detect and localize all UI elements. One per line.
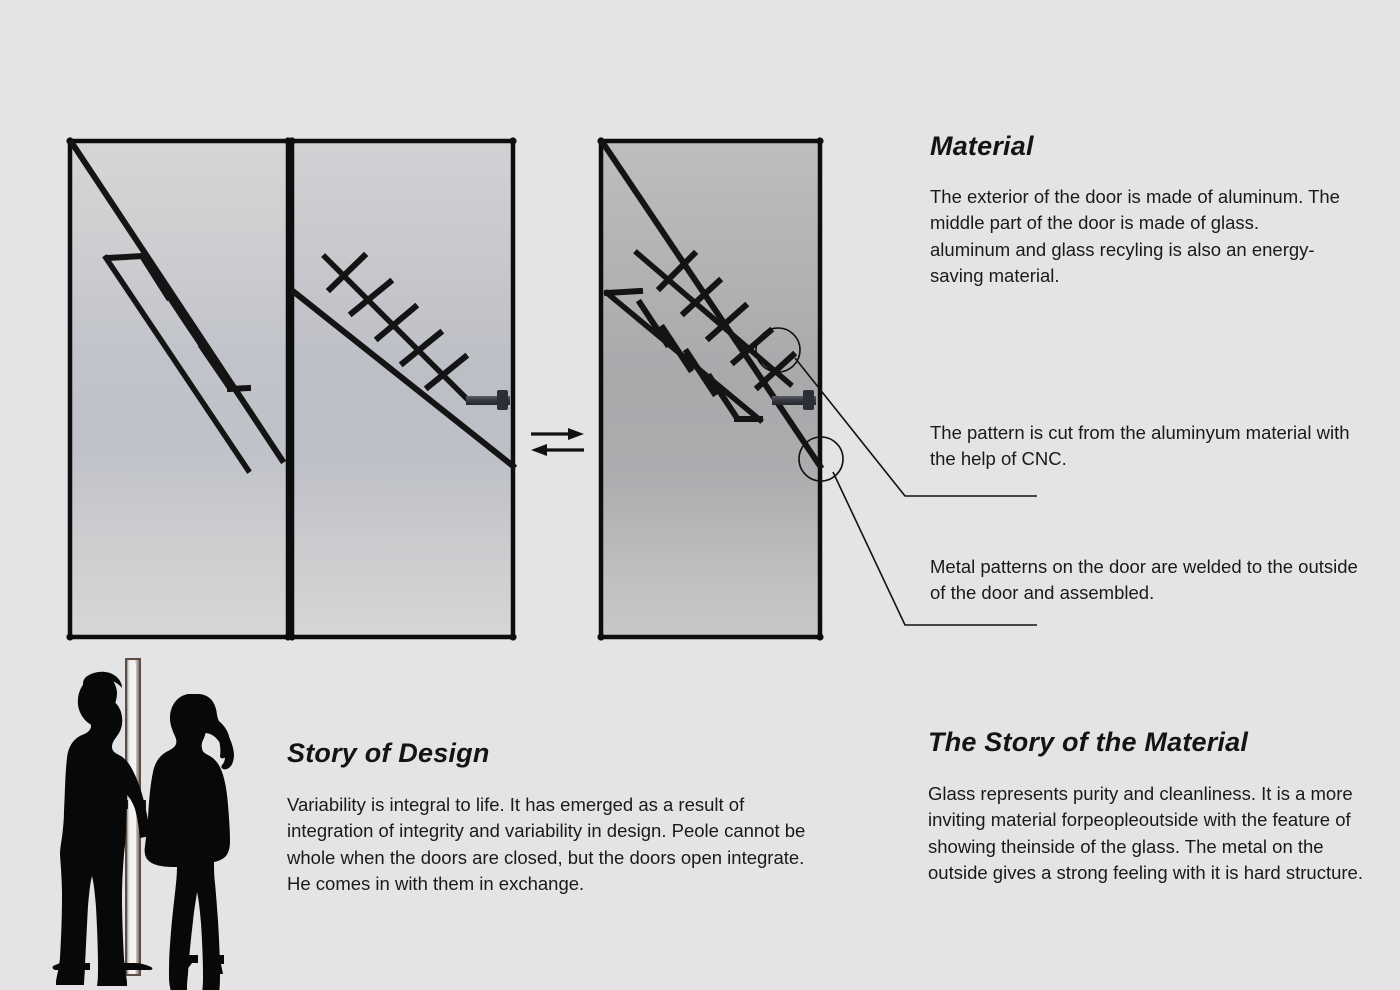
story-of-material-heading: The Story of the Material (928, 727, 1378, 758)
story-of-design-body: Variability is integral to life. It has … (287, 792, 807, 897)
welded-callout-section: Metal patterns on the door are welded to… (930, 554, 1370, 607)
transform-arrow-icon (531, 428, 584, 456)
human-scale-diagram (53, 659, 234, 990)
material-body: The exterior of the door is made of alum… (930, 184, 1350, 289)
material-heading: Material (930, 131, 1350, 162)
woman-silhouette (145, 694, 234, 990)
cnc-callout-section: The pattern is cut from the aluminyum ma… (930, 420, 1360, 473)
material-section: Material The exterior of the door is mad… (930, 131, 1350, 289)
story-of-material-body: Glass represents purity and cleanliness.… (928, 781, 1378, 886)
welded-callout-body: Metal patterns on the door are welded to… (930, 554, 1370, 607)
door-leaf-left-panel (70, 141, 288, 637)
story-of-material-section: The Story of the Material Glass represen… (928, 727, 1378, 886)
cnc-callout-body: The pattern is cut from the aluminyum ma… (930, 420, 1360, 473)
story-of-design-heading: Story of Design (287, 738, 807, 769)
double-door-open-elevation (66, 137, 516, 640)
door-leaf-right-panel (292, 141, 513, 637)
man-shoe-front (103, 963, 152, 970)
single-door-closed-elevation (597, 137, 843, 640)
story-of-design-section: Story of Design Variability is integral … (287, 738, 807, 897)
presentation-board: Material The exterior of the door is mad… (0, 0, 1400, 990)
man-shoe-back (53, 963, 90, 970)
